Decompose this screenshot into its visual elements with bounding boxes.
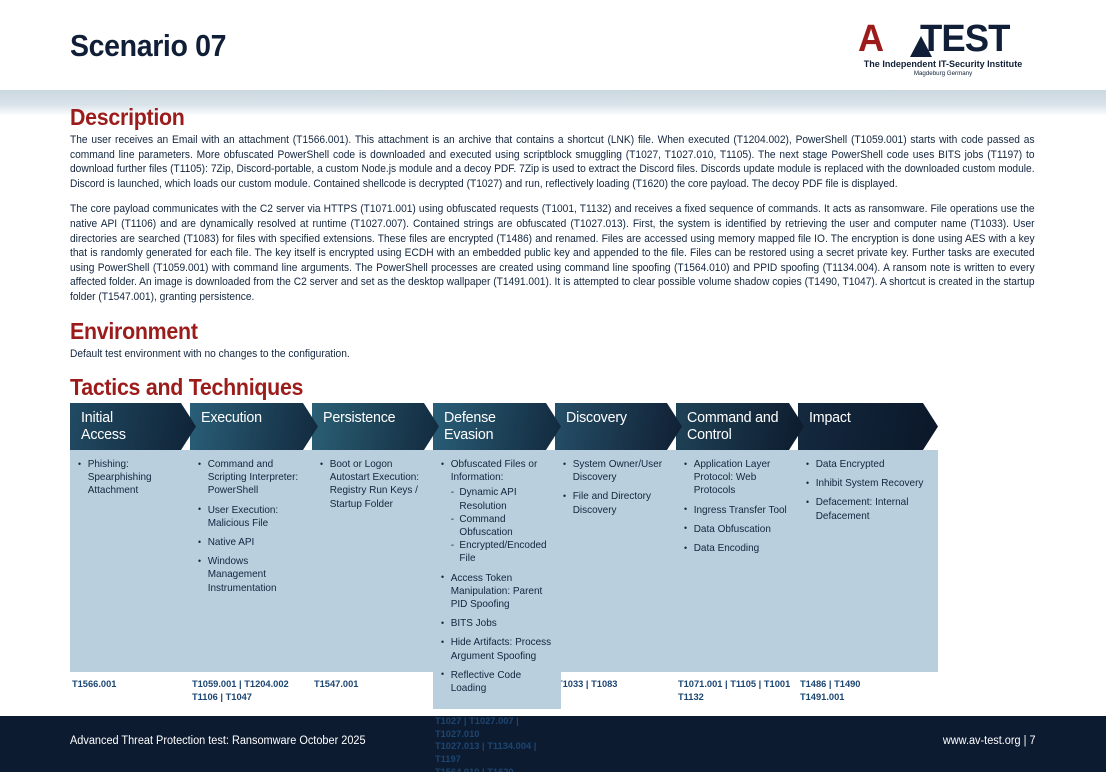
technique-list-container: Phishing: Spearphishing Attachment: [70, 450, 196, 672]
tactic-header-discovery[interactable]: Discovery: [555, 403, 682, 450]
tactic-header-label-line: Control: [687, 426, 798, 443]
technique-item[interactable]: Hide Artifacts: Process Argument Spoofin…: [441, 636, 552, 662]
technique-id-line: T1033 | T1083: [557, 679, 672, 692]
content-area: Description The user receives an Email w…: [70, 104, 1036, 403]
environment-text: Default test environment with no changes…: [70, 347, 993, 362]
footer-url-and-page: www.av-test.org | 7: [943, 735, 1036, 747]
technique-item[interactable]: Windows Management Instrumentation: [198, 555, 309, 595]
tactic-header-impact[interactable]: Impact: [798, 403, 938, 450]
technique-list: Data EncryptedInhibit System RecoveryDef…: [806, 458, 932, 523]
technique-item[interactable]: System Owner/User Discovery: [563, 458, 673, 484]
technique-list: Application Layer Protocol: Web Protocol…: [684, 458, 798, 555]
technique-item[interactable]: Access Token Manipulation: Parent PID Sp…: [441, 572, 552, 612]
description-paragraph-2: The core payload communicates with the C…: [70, 202, 1035, 304]
tactic-column-defense-evasion: DefenseEvasionObfuscated Files or Inform…: [433, 403, 561, 772]
technique-item[interactable]: Phishing: Spearphishing Attachment: [78, 458, 187, 498]
technique-id-line: T1059.001 | T1204.002: [192, 679, 308, 692]
description-paragraph-1: The user receives an Email with an attac…: [70, 133, 1035, 191]
tactics-heading: Tactics and Techniques: [70, 374, 968, 401]
technique-item[interactable]: Reflective Code Loading: [441, 669, 552, 695]
technique-list: Boot or Logon Autostart Execution: Regis…: [320, 458, 433, 511]
technique-item[interactable]: Defacement: Internal Defacement: [806, 496, 928, 522]
technique-list: System Owner/User DiscoveryFile and Dire…: [563, 458, 676, 517]
logo-av-text: A: [858, 20, 881, 58]
technique-item[interactable]: Native API: [198, 536, 309, 549]
technique-item[interactable]: Data Obfuscation: [684, 523, 795, 536]
technique-id-line: T1027 | T1027.007 | T1027.010: [435, 716, 551, 741]
technique-id-list: T1566.001: [70, 672, 192, 692]
technique-list: Command and Scripting Interpreter: Power…: [198, 458, 312, 595]
technique-item[interactable]: Ingress Transfer Tool: [684, 504, 795, 517]
technique-item[interactable]: Data Encrypted: [806, 458, 928, 471]
technique-id-list: T1033 | T1083: [555, 672, 678, 692]
technique-id-line: T1106 | T1047: [192, 692, 308, 705]
tactic-header-label-line: Persistence: [323, 409, 433, 426]
page-title: Scenario 07: [70, 28, 226, 64]
technique-id-line: T1027.013 | T1134.004 | T1197: [435, 741, 551, 766]
technique-list: Phishing: Spearphishing Attachment: [78, 458, 190, 498]
technique-list: Obfuscated Files or Information:Dynamic …: [441, 458, 555, 695]
technique-id-list: T1547.001: [312, 672, 435, 692]
environment-heading: Environment: [70, 318, 968, 345]
technique-id-line: T1486 | T1490: [800, 679, 928, 692]
tactic-header-label-line: Impact: [809, 409, 932, 426]
tactic-header-persistence[interactable]: Persistence: [312, 403, 439, 450]
tactic-header-label-line: Initial: [81, 409, 190, 426]
technique-item[interactable]: Data Encoding: [684, 542, 795, 555]
description-heading: Description: [70, 104, 968, 131]
tactic-header-initial-access[interactable]: InitialAccess: [70, 403, 196, 450]
footer-test-name: Advanced Threat Protection test: Ransomw…: [70, 735, 366, 747]
technique-id-line: T1491.001: [800, 692, 928, 705]
technique-id-list: T1059.001 | T1204.002T1106 | T1047: [190, 672, 314, 704]
technique-item[interactable]: User Execution: Malicious File: [198, 504, 309, 530]
tactic-header-label-line: Evasion: [444, 426, 555, 443]
tactic-header-defense-evasion[interactable]: DefenseEvasion: [433, 403, 561, 450]
technique-list-container: Boot or Logon Autostart Execution: Regis…: [312, 450, 439, 672]
tactic-header-label-line: Command and: [687, 409, 798, 426]
tactic-column-command-and-control: Command andControlApplication Layer Prot…: [676, 403, 804, 704]
technique-list-container: Obfuscated Files or Information:Dynamic …: [433, 450, 561, 709]
tactic-column-initial-access: InitialAccessPhishing: Spearphishing Att…: [70, 403, 196, 692]
technique-subitem[interactable]: Encrypted/Encoded File: [451, 539, 552, 565]
tactic-column-discovery: DiscoverySystem Owner/User DiscoveryFile…: [555, 403, 682, 692]
slide-page: Scenario 07 A TEST The Independent IT-Se…: [0, 0, 1106, 772]
technique-list-container: System Owner/User DiscoveryFile and Dire…: [555, 450, 682, 672]
technique-list-container: Data EncryptedInhibit System RecoveryDef…: [798, 450, 938, 672]
tactic-column-execution: ExecutionCommand and Scripting Interpret…: [190, 403, 318, 704]
technique-subitem[interactable]: Command Obfuscation: [451, 513, 552, 539]
technique-id-list: T1071.001 | T1105 | T1001T1132: [676, 672, 800, 704]
technique-item[interactable]: Application Layer Protocol: Web Protocol…: [684, 458, 795, 498]
logo-tagline: The Independent IT-Security Institute: [862, 59, 1024, 70]
technique-subitem[interactable]: Dynamic API Resolution: [451, 486, 552, 512]
technique-id-line: T1564.010 | T1620: [435, 767, 551, 772]
technique-id-line: T1547.001: [314, 679, 429, 692]
technique-list-container: Command and Scripting Interpreter: Power…: [190, 450, 318, 672]
logo-wordmark: A TEST: [858, 20, 1028, 58]
technique-id-line: T1132: [678, 692, 794, 705]
technique-id-line: T1566.001: [72, 679, 186, 692]
tactic-header-label-line: Execution: [201, 409, 312, 426]
technique-id-line: T1071.001 | T1105 | T1001: [678, 679, 794, 692]
technique-item[interactable]: File and Directory Discovery: [563, 490, 673, 516]
technique-item[interactable]: BITS Jobs: [441, 617, 552, 630]
technique-item[interactable]: Boot or Logon Autostart Execution: Regis…: [320, 458, 430, 511]
av-test-logo: A TEST The Independent IT-Security Insti…: [858, 20, 1028, 78]
tactic-header-label-line: Defense: [444, 409, 555, 426]
tactic-header-label-line: Access: [81, 426, 190, 443]
page-header: Scenario 07 A TEST The Independent IT-Se…: [0, 0, 1106, 90]
tactic-header-label-line: Discovery: [566, 409, 676, 426]
logo-test-text: TEST: [920, 20, 1009, 58]
technique-item[interactable]: Obfuscated Files or Information:Dynamic …: [441, 458, 552, 566]
technique-sublist: Dynamic API ResolutionCommand Obfuscatio…: [451, 486, 552, 565]
technique-item[interactable]: Inhibit System Recovery: [806, 477, 928, 490]
tactic-header-execution[interactable]: Execution: [190, 403, 318, 450]
tactic-column-impact: ImpactData EncryptedInhibit System Recov…: [798, 403, 938, 704]
tactic-column-persistence: PersistenceBoot or Logon Autostart Execu…: [312, 403, 439, 692]
technique-id-list: T1486 | T1490T1491.001: [798, 672, 934, 704]
technique-item[interactable]: Command and Scripting Interpreter: Power…: [198, 458, 309, 498]
tactics-and-techniques-table: InitialAccessPhishing: Spearphishing Att…: [70, 403, 990, 708]
logo-subtagline: Magdeburg Germany: [862, 70, 1024, 77]
tactic-header-command-and-control[interactable]: Command andControl: [676, 403, 804, 450]
technique-id-list: T1027 | T1027.007 | T1027.010T1027.013 |…: [433, 709, 557, 772]
technique-list-container: Application Layer Protocol: Web Protocol…: [676, 450, 804, 672]
